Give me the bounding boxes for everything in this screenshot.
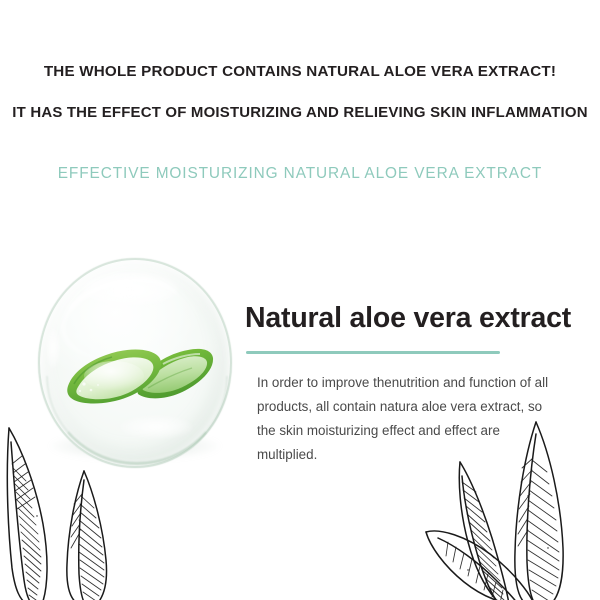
poster-canvas: THE WHOLE PRODUCT CONTAINS NATURAL ALOE … <box>0 0 600 600</box>
leaf-line-art-left <box>0 424 181 600</box>
leaf-line-art-right <box>424 420 600 600</box>
headline-secondary: IT HAS THE EFFECT OF MOISTURIZING AND RE… <box>5 104 596 121</box>
subheadline-accent: EFFECTIVE MOISTURIZING NATURAL ALOE VERA… <box>0 165 600 183</box>
headline-primary: THE WHOLE PRODUCT CONTAINS NATURAL ALOE … <box>0 63 600 80</box>
product-title: Natural aloe vera extract <box>245 302 571 335</box>
title-underline-rule <box>246 351 500 354</box>
aloe-leaf-slices-icon <box>62 328 214 414</box>
sphere-highlight-left <box>46 328 60 368</box>
